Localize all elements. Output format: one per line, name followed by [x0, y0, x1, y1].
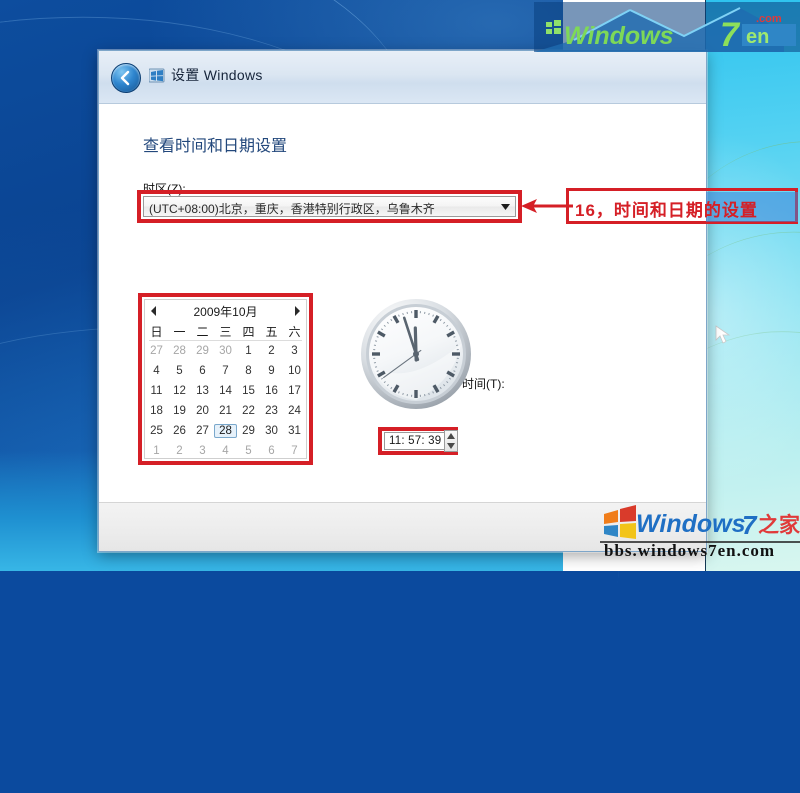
- spinner-down-icon[interactable]: [447, 443, 455, 449]
- calendar-weekday: 五: [260, 322, 283, 341]
- calendar-day-cell[interactable]: 26: [168, 421, 191, 441]
- calendar-day-cell[interactable]: 30: [214, 341, 237, 361]
- windows-flag-icon: [604, 505, 636, 539]
- calendar-week-row: 45678910: [145, 361, 306, 381]
- dialog-title: 设置 Windows: [171, 65, 263, 85]
- calendar-day-cell[interactable]: 9: [260, 361, 283, 381]
- annotation-text: 16，时间和日期的设置: [575, 196, 758, 221]
- calendar-day-cell[interactable]: 22: [237, 401, 260, 421]
- calendar-day-cell[interactable]: 5: [168, 361, 191, 381]
- calendar-day-cell[interactable]: 7: [283, 441, 306, 461]
- calendar-day-cell[interactable]: 10: [283, 361, 306, 381]
- calendar-day-cell[interactable]: 1: [145, 441, 168, 461]
- watermark-com-text: .com: [756, 13, 782, 25]
- calendar-day-cell[interactable]: 27: [191, 421, 214, 441]
- annotation-callout: 16，时间和日期的设置: [566, 188, 798, 224]
- time-value: 11: 57: 39: [385, 435, 441, 447]
- watermark-seven-text: 7: [742, 510, 758, 540]
- calendar-weekday: 一: [168, 322, 191, 341]
- back-arrow-icon: [118, 70, 134, 86]
- calendar-day-cell[interactable]: 2: [168, 441, 191, 461]
- calendar-day-cell[interactable]: 31: [283, 421, 306, 441]
- calendar-weekday: 六: [283, 322, 306, 341]
- calendar-day-rows: 2728293012345678910111213141516171819202…: [145, 341, 306, 461]
- analog-clock: [358, 296, 474, 412]
- calendar-day-cell[interactable]: 24: [283, 401, 306, 421]
- calendar-day-cell[interactable]: 29: [237, 421, 260, 441]
- caret-right-icon[interactable]: [291, 305, 303, 317]
- calendar-week-row: 27282930123: [145, 341, 306, 361]
- watermark-url-text: bbs.windows7en.com: [604, 541, 775, 560]
- calendar-day-cell[interactable]: 28: [168, 341, 191, 361]
- watermark-en-text: en: [746, 26, 769, 48]
- calendar-day-cell[interactable]: 27: [145, 341, 168, 361]
- calendar-day-cell[interactable]: 7: [214, 361, 237, 381]
- secondary-wallpaper-strip: [705, 0, 800, 571]
- calendar-day-cell[interactable]: 28: [214, 421, 237, 441]
- calendar-day-cell[interactable]: 23: [260, 401, 283, 421]
- calendar-grid: 日一二三四五六 27282930123456789101112131415161…: [145, 322, 306, 461]
- calendar-day-cell[interactable]: 17: [283, 381, 306, 401]
- date-calendar[interactable]: 2009年10月 日一二三四五六 27282930123456789101112…: [144, 299, 307, 459]
- calendar-day-cell[interactable]: 4: [214, 441, 237, 461]
- calendar-header: 2009年10月: [145, 300, 306, 322]
- windows7en-watermark: Windows 7 en .com: [534, 2, 800, 52]
- calendar-day-cell[interactable]: 6: [191, 361, 214, 381]
- mouse-cursor-icon: [715, 325, 733, 345]
- calendar-week-row: 18192021222324: [145, 401, 306, 421]
- calendar-day-cell[interactable]: 18: [145, 401, 168, 421]
- calendar-day-cell[interactable]: 4: [145, 361, 168, 381]
- calendar-weekday: 三: [214, 322, 237, 341]
- calendar-day-cell[interactable]: 8: [237, 361, 260, 381]
- calendar-day-cell[interactable]: 29: [191, 341, 214, 361]
- windows-setup-icon: [149, 68, 165, 84]
- calendar-day-cell[interactable]: 16: [260, 381, 283, 401]
- timezone-select[interactable]: (UTC+08:00)北京，重庆，香港特别行政区，乌鲁木齐: [143, 196, 516, 217]
- calendar-week-row: 11121314151617: [145, 381, 306, 401]
- calendar-day-cell[interactable]: 20: [191, 401, 214, 421]
- chevron-down-icon: [501, 204, 510, 210]
- timezone-value: (UTC+08:00)北京，重庆，香港特别行政区，乌鲁木齐: [149, 200, 435, 217]
- calendar-day-cell[interactable]: 25: [145, 421, 168, 441]
- calendar-day-cell[interactable]: 3: [191, 441, 214, 461]
- calendar-day-cell[interactable]: 2: [260, 341, 283, 361]
- spinner-up-icon[interactable]: [447, 433, 455, 439]
- calendar-day-cell[interactable]: 19: [168, 401, 191, 421]
- calendar-day-cell[interactable]: 15: [237, 381, 260, 401]
- watermark-seven-text: 7: [720, 16, 741, 52]
- calendar-day-cell[interactable]: 6: [260, 441, 283, 461]
- page-title: 查看时间和日期设置: [143, 132, 287, 156]
- calendar-week-row: 1234567: [145, 441, 306, 461]
- timezone-dropdown-button[interactable]: [497, 198, 514, 215]
- calendar-day-cell[interactable]: 3: [283, 341, 306, 361]
- calendar-day-cell[interactable]: 12: [168, 381, 191, 401]
- calendar-weekday-row: 日一二三四五六: [145, 322, 306, 341]
- calendar-weekday: 日: [145, 322, 168, 341]
- calendar-month-title: 2009年10月: [145, 303, 306, 320]
- calendar-day-cell[interactable]: 5: [237, 441, 260, 461]
- calendar-week-row: 25262728293031: [145, 421, 306, 441]
- windows7zhijia-watermark: Windows 7 之家 bbs.windows7en.com: [600, 498, 800, 560]
- calendar-day-cell[interactable]: 21: [214, 401, 237, 421]
- calendar-day-cell[interactable]: 13: [191, 381, 214, 401]
- back-button[interactable]: [111, 63, 141, 93]
- calendar-day-cell[interactable]: 14: [214, 381, 237, 401]
- calendar-day-cell[interactable]: 30: [260, 421, 283, 441]
- watermark-zhijia-text: 之家: [758, 513, 800, 537]
- calendar-weekday: 四: [237, 322, 260, 341]
- calendar-divider: [149, 340, 302, 341]
- watermark-windows-text: Windows: [564, 22, 674, 50]
- time-input[interactable]: 11: 57: 39: [384, 432, 452, 450]
- dialog-title-bar: 设置 Windows: [99, 51, 706, 104]
- time-spinner[interactable]: [444, 430, 458, 452]
- calendar-day-cell[interactable]: 1: [237, 341, 260, 361]
- calendar-weekday: 二: [191, 322, 214, 341]
- calendar-day-cell[interactable]: 11: [145, 381, 168, 401]
- watermark-brand-text: Windows: [636, 510, 746, 538]
